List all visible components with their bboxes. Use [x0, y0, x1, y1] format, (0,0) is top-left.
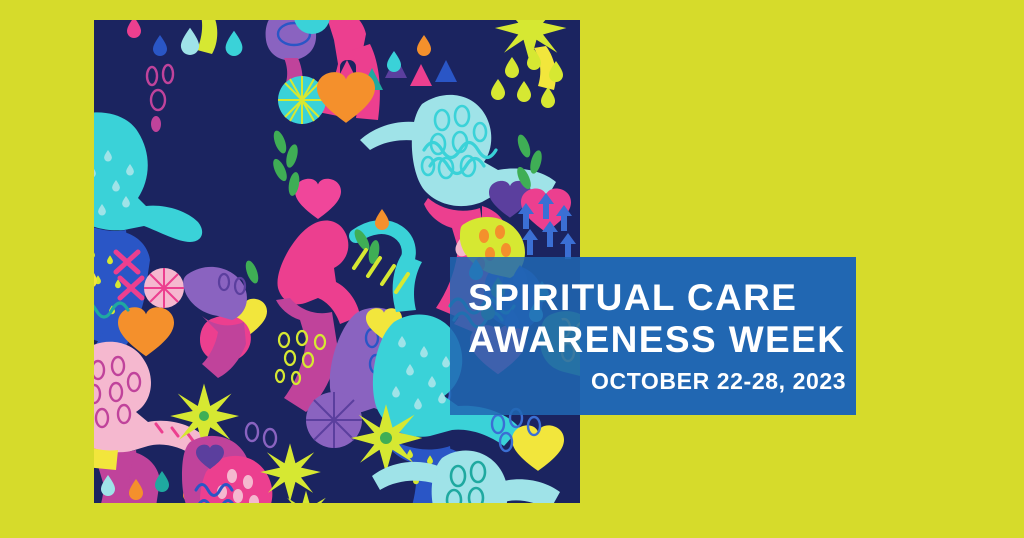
poster-canvas: SPIRITUAL CARE AWARENESS WEEK OCTOBER 22… [0, 0, 1024, 538]
banner-solid [580, 257, 856, 415]
